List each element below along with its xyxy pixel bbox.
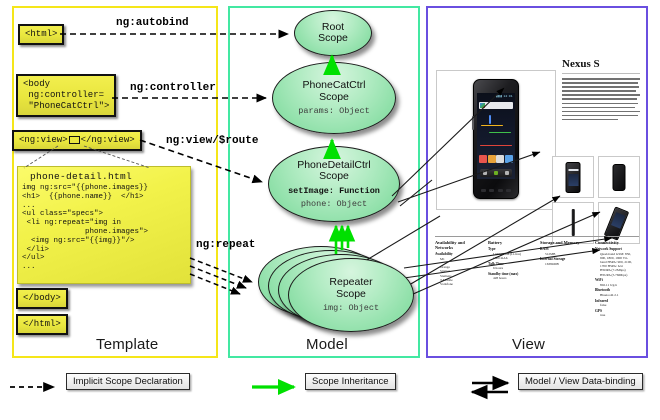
diagram-canvas: ▮▮▮ 12:01 bbox=[0, 0, 660, 420]
legend-item-inheritance: Scope Inheritance bbox=[305, 373, 396, 390]
legend: Implicit Scope Declaration Scope Inherit… bbox=[0, 372, 660, 414]
column-label-template: Template bbox=[96, 336, 158, 353]
label-ng-controller: ng:controller bbox=[130, 82, 216, 94]
label-ng-view-route: ng:view/$route bbox=[166, 135, 258, 147]
scope-name: Repeater bbox=[329, 277, 372, 289]
scope-property: img: Object bbox=[323, 303, 379, 313]
connector-overlay bbox=[0, 0, 660, 420]
column-label-view: View bbox=[512, 336, 545, 353]
legend-item-implicit: Implicit Scope Declaration bbox=[66, 373, 190, 390]
label-ng-repeat: ng:repeat bbox=[196, 239, 255, 251]
connector-inheritance bbox=[332, 56, 348, 254]
label-ng-autobind: ng:autobind bbox=[116, 17, 189, 29]
note-leader-lines bbox=[24, 146, 150, 168]
scope-repeater[interactable]: Repeater Scope img: Object bbox=[288, 258, 414, 332]
legend-item-databinding: Model / View Data-binding bbox=[518, 373, 643, 390]
scope-name-2: Scope bbox=[336, 289, 366, 301]
column-label-model: Model bbox=[306, 336, 348, 353]
connector-repeat bbox=[190, 258, 252, 294]
